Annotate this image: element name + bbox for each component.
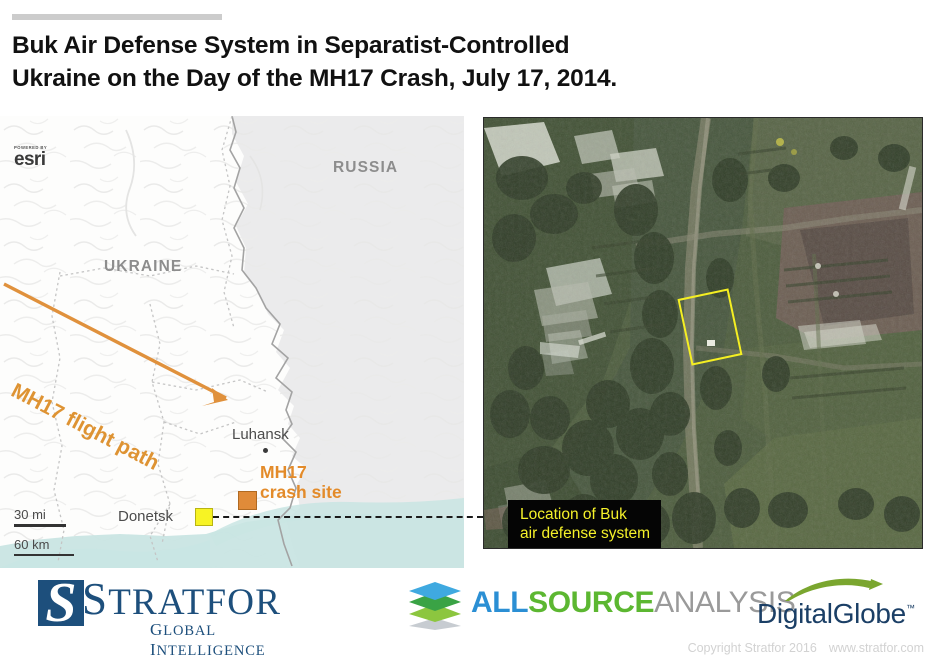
- copyright-line: Copyright Stratfor 2016www.stratfor.com: [688, 641, 924, 655]
- stratfor-mark-letter: S: [38, 577, 84, 629]
- page-title: Buk Air Defense System in Separatist-Con…: [12, 30, 892, 96]
- esri-wordmark: esri: [14, 150, 72, 169]
- digitalglobe-trademark: ™: [906, 603, 915, 613]
- satellite-image-panel[interactable]: Location of Buk air defense system: [483, 117, 923, 549]
- city-label-donetsk: Donetsk: [118, 508, 173, 525]
- map-scale-bar: 30 mi 60 km: [14, 508, 74, 567]
- country-label-russia: RUSSIA: [333, 159, 398, 177]
- stratfor-wordmark-rest: TRATFOR: [108, 582, 281, 623]
- crash-site-label-line-2: crash site: [260, 483, 342, 503]
- page-title-line-1: Buk Air Defense System in Separatist-Con…: [12, 30, 892, 63]
- footer-logo-bar: S STRATFOR GLOBAL INTELLIGENCE ALLSOURCE…: [0, 568, 940, 638]
- esri-attribution: POWERED BY esri: [14, 145, 72, 169]
- stratfor-wordmark-initial: S: [82, 574, 108, 624]
- crash-site-marker[interactable]: [238, 491, 257, 510]
- digitalglobe-wordmark-text: DigitalGlobe: [757, 598, 906, 629]
- inset-connector-line: [213, 516, 483, 518]
- header-rule: [12, 14, 222, 20]
- city-dot-luhansk: [263, 448, 268, 453]
- satellite-callout-label: Location of Buk air defense system: [508, 500, 661, 549]
- scale-label-kilometers: 60 km: [14, 538, 74, 552]
- allsource-wordmark: ALLSOURCEANALYSIS: [471, 586, 795, 620]
- page-title-line-2: Ukraine on the Day of the MH17 Crash, Ju…: [12, 63, 892, 96]
- city-label-luhansk: Luhansk: [232, 426, 289, 443]
- website-text: www.stratfor.com: [829, 641, 924, 655]
- buk-location-marker[interactable]: [195, 508, 213, 526]
- stratfor-tagline-intelligence: NTELLIGENCE: [157, 643, 266, 659]
- overview-map[interactable]: POWERED BY esri UKRAINE RUSSIA Luhansk D…: [0, 116, 464, 568]
- scale-bar-miles: [14, 524, 66, 527]
- allsource-stack-icon: [405, 582, 465, 630]
- allsource-word-source: SOURCE: [528, 586, 654, 619]
- crash-site-label: MH17 crash site: [260, 463, 342, 502]
- allsource-word-all: ALL: [471, 586, 528, 619]
- satellite-callout-line-2: air defense system: [520, 525, 650, 544]
- buk-vehicle: [707, 340, 715, 346]
- stratfor-tagline-g: G: [150, 620, 163, 639]
- satellite-callout-line-1: Location of Buk: [520, 506, 650, 525]
- crash-site-label-line-1: MH17: [260, 463, 342, 483]
- scale-label-miles: 30 mi: [14, 508, 74, 522]
- stratfor-wordmark: STRATFOR: [82, 579, 281, 623]
- stratfor-tagline: GLOBAL INTELLIGENCE: [150, 620, 266, 660]
- stratfor-logo-mark: S: [38, 580, 84, 626]
- stratfor-tagline-global: LOBAL: [163, 623, 215, 639]
- copyright-text: Copyright Stratfor 2016: [688, 641, 817, 655]
- country-label-ukraine: UKRAINE: [104, 258, 182, 276]
- digitalglobe-wordmark: DigitalGlobe™: [757, 598, 915, 630]
- scale-bar-kilometers: [14, 554, 74, 557]
